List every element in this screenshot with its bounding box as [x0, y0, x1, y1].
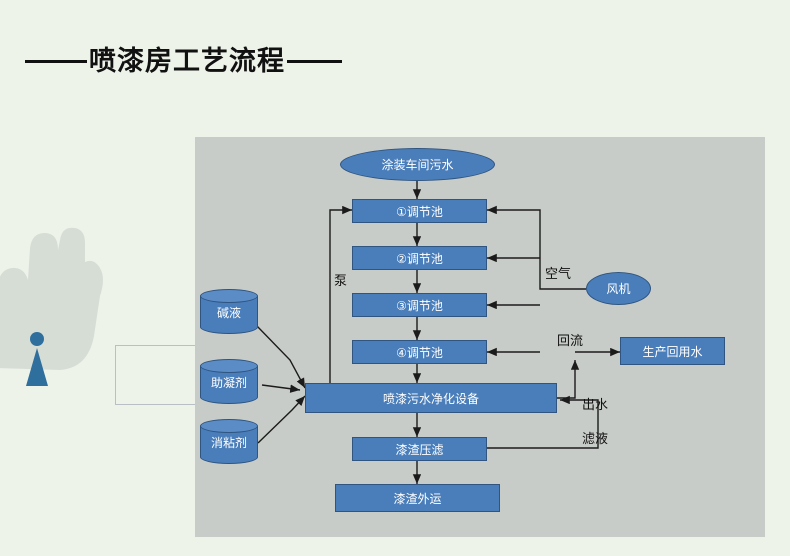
edge-label-pump: 泵: [334, 270, 347, 289]
node-tank3[interactable]: ③调节池: [352, 293, 487, 317]
node-alkali-label: 碱液: [200, 290, 258, 334]
node-reuse-water[interactable]: 生产回用水: [620, 337, 725, 365]
edge-label-filtrate: 滤液: [582, 428, 608, 447]
node-fan[interactable]: 风机: [586, 272, 651, 305]
slide-canvas: 喷漆房工艺流程: [0, 0, 790, 556]
edge-label-air: 空气: [545, 263, 571, 282]
node-source[interactable]: 涂装车间污水: [340, 148, 495, 181]
node-reuse-water-label: 生产回用水: [642, 343, 702, 360]
node-tank3-label: ③调节池: [396, 297, 443, 314]
node-defoamer-tank[interactable]: 消粘剂: [200, 420, 258, 464]
node-tank1-label: ①调节池: [396, 203, 443, 220]
edge-label-backflow: 回流: [557, 330, 583, 349]
node-purifier-label: 喷漆污水净化设备: [383, 390, 479, 407]
connector-wires: [0, 0, 790, 556]
node-tank4[interactable]: ④调节池: [352, 340, 487, 364]
node-alkali-tank[interactable]: 碱液: [200, 290, 258, 334]
node-press-label: 漆渣压滤: [395, 441, 443, 458]
node-tank2[interactable]: ②调节池: [352, 246, 487, 270]
node-tank4-label: ④调节池: [396, 344, 443, 361]
node-transport-out-label: 漆渣外运: [393, 490, 441, 507]
node-fan-label: 风机: [606, 280, 630, 297]
node-coagulant-tank[interactable]: 助凝剂: [200, 360, 258, 404]
edge-label-effluent: 出水: [582, 394, 608, 413]
node-coagulant-label: 助凝剂: [200, 360, 258, 404]
node-source-label: 涂装车间污水: [381, 156, 453, 173]
node-tank1[interactable]: ①调节池: [352, 199, 487, 223]
node-tank2-label: ②调节池: [396, 250, 443, 267]
node-transport-out[interactable]: 漆渣外运: [335, 484, 500, 512]
node-purifier[interactable]: 喷漆污水净化设备: [305, 383, 557, 413]
node-defoamer-label: 消粘剂: [200, 420, 258, 464]
node-press[interactable]: 漆渣压滤: [352, 437, 487, 461]
